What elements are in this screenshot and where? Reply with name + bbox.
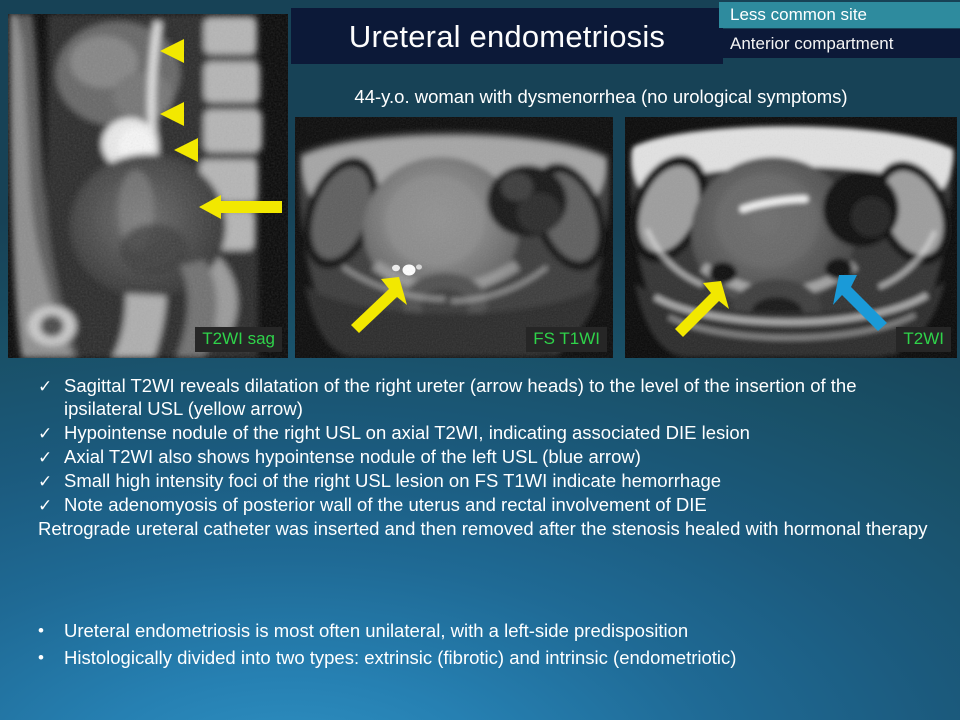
finding-text: Small high intensity foci of the right U…: [64, 469, 928, 492]
check-icon: ✓: [38, 374, 64, 398]
badge-less-common-site[interactable]: Less common site: [719, 2, 960, 28]
check-icon: ✓: [38, 493, 64, 517]
finding-item: ✓ Hypointense nodule of the right USL on…: [38, 421, 928, 445]
page-title: Ureteral endometriosis: [349, 21, 665, 52]
image-label-t2wi: T2WI: [896, 327, 951, 352]
image-label-fs-t1wi: FS T1WI: [526, 327, 607, 352]
key-point-text: Histologically divided into two types: e…: [64, 645, 928, 672]
badge-secondary-label: Anterior compartment: [719, 34, 893, 54]
slide: T2WI sag: [0, 0, 960, 720]
bullet-icon: •: [38, 645, 64, 671]
finding-item: ✓ Sagittal T2WI reveals dilatation of th…: [38, 374, 928, 421]
finding-item: ✓ Small high intensity foci of the right…: [38, 469, 928, 493]
finding-item: ✓ Axial T2WI also shows hypointense nodu…: [38, 445, 928, 469]
mri-panel-t2wi-axial[interactable]: T2WI: [625, 117, 957, 358]
badge-anterior-compartment[interactable]: Anterior compartment: [719, 29, 960, 58]
axial-t2wi-image: [625, 117, 957, 358]
check-icon: ✓: [38, 421, 64, 445]
check-icon: ✓: [38, 469, 64, 493]
finding-text: Hypointense nodule of the right USL on a…: [64, 421, 928, 444]
mri-panel-fs-t1wi[interactable]: FS T1WI: [295, 117, 613, 358]
findings-list: ✓ Sagittal T2WI reveals dilatation of th…: [38, 374, 928, 540]
axial-fs-t1wi-image: [295, 117, 613, 358]
key-point-item: • Histologically divided into two types:…: [38, 645, 928, 672]
bullet-icon: •: [38, 618, 64, 644]
treatment-note: Retrograde ureteral catheter was inserte…: [38, 517, 928, 540]
case-subtitle: 44-y.o. woman with dysmenorrhea (no urol…: [291, 83, 911, 111]
finding-text: Note adenomyosis of posterior wall of th…: [64, 493, 928, 516]
check-icon: ✓: [38, 445, 64, 469]
finding-text: Sagittal T2WI reveals dilatation of the …: [64, 374, 928, 421]
key-point-text: Ureteral endometriosis is most often uni…: [64, 618, 928, 645]
key-point-item: • Ureteral endometriosis is most often u…: [38, 618, 928, 645]
sagittal-mri-image: [8, 14, 288, 358]
key-points-list: • Ureteral endometriosis is most often u…: [38, 618, 928, 672]
case-subtitle-text: 44-y.o. woman with dysmenorrhea (no urol…: [354, 86, 847, 108]
slide-title-box: Ureteral endometriosis: [291, 8, 723, 64]
mri-panel-sagittal[interactable]: T2WI sag: [8, 14, 288, 358]
finding-item: ✓ Note adenomyosis of posterior wall of …: [38, 493, 928, 517]
badge-primary-label: Less common site: [719, 5, 867, 25]
finding-text: Axial T2WI also shows hypointense nodule…: [64, 445, 928, 468]
image-label-sagittal: T2WI sag: [195, 327, 282, 352]
